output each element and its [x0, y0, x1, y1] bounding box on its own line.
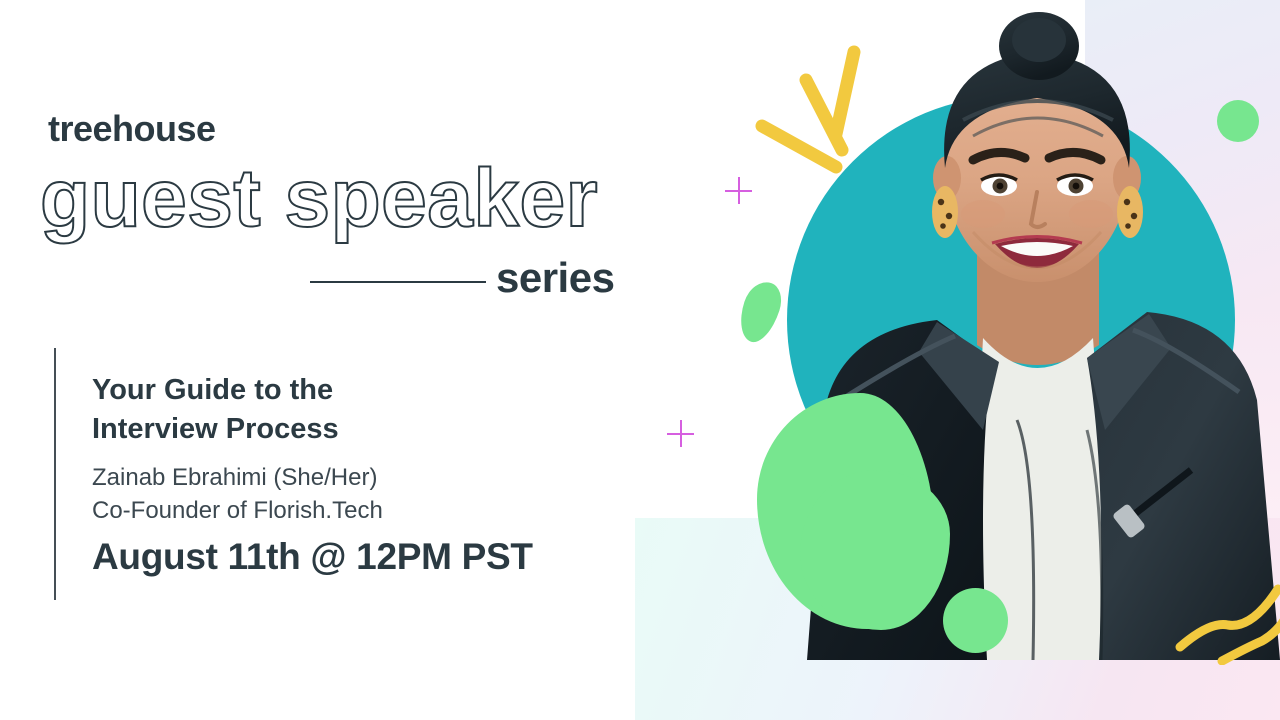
guest-speaker-promo-slide: treehouse guest speaker series Your Guid… — [0, 0, 1280, 720]
green-dot-shape — [1217, 100, 1259, 142]
talk-title-line-1: Your Guide to the — [92, 371, 552, 410]
speaker-info: Zainab Ebrahimi (She/Her) Co-Founder of … — [92, 461, 383, 527]
plus-mark-upper-icon — [725, 177, 752, 204]
speaker-name: Zainab Ebrahimi (She/Her) — [92, 461, 383, 494]
event-datetime: August 11th @ 12PM PST — [92, 536, 533, 578]
series-divider-rule — [310, 281, 486, 283]
talk-title: Your Guide to the Interview Process — [92, 371, 552, 450]
plus-mark-lower-icon — [667, 420, 694, 447]
talk-title-line-2: Interview Process — [92, 410, 552, 449]
speaker-role: Co-Founder of Florish.Tech — [92, 494, 383, 527]
headline-outline-text: guest speaker — [40, 158, 598, 240]
green-blob-small-shape — [733, 277, 786, 347]
series-label: series — [496, 254, 614, 302]
brand-wordmark: treehouse — [48, 108, 216, 150]
vertical-divider-rule — [54, 348, 56, 600]
green-circle-shape — [943, 588, 1008, 653]
